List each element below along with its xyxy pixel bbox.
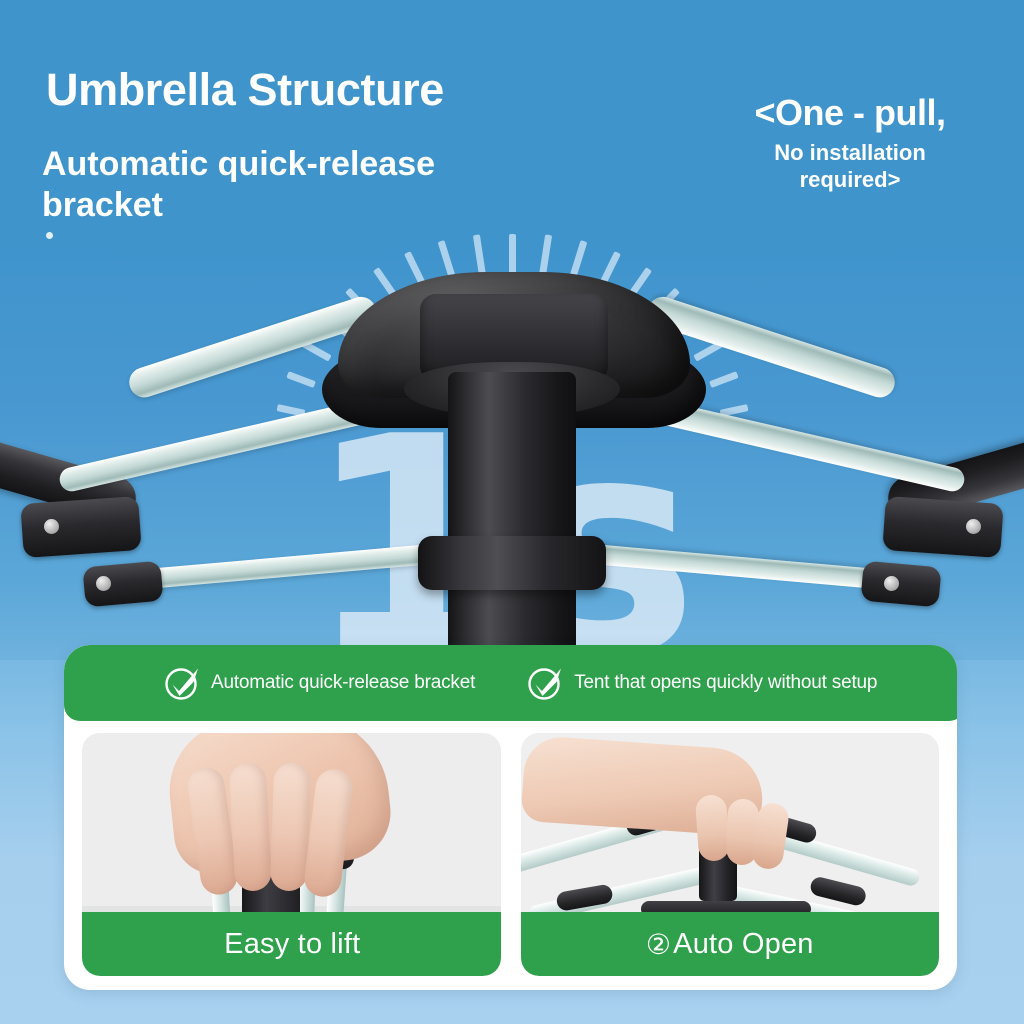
product-joint-right-outer <box>882 496 1003 558</box>
product-center-pole <box>448 372 576 660</box>
frame-joint-arm <box>808 875 867 907</box>
product-joint-left-outer <box>20 496 141 558</box>
panel-caption-easy-to-lift: Easy to lift <box>82 912 501 976</box>
finger <box>694 794 730 862</box>
panel-row: Easy to lift <box>64 721 957 990</box>
page-title: Umbrella Structure <box>46 64 444 116</box>
product-rivet-right-outer <box>966 519 981 534</box>
product-pole-ring <box>418 536 606 590</box>
check-circle-icon <box>162 663 202 703</box>
panel-caption-auto-open: ② Auto Open <box>521 912 940 976</box>
check-circle-icon <box>525 663 565 703</box>
product-rivet-left-lower <box>96 576 111 591</box>
tagline-sub: No installation required> <box>700 140 1000 194</box>
product-rivet-right-lower <box>884 576 899 591</box>
tagline-main: <One - pull, <box>700 92 1000 134</box>
panel-auto-open[interactable]: ② Auto Open <box>521 733 940 976</box>
caption-text: Auto Open <box>673 928 813 961</box>
panel-easy-to-lift[interactable]: Easy to lift <box>82 733 501 976</box>
caption-text: Easy to lift <box>224 928 360 961</box>
feature-card: Automatic quick-release bracket Tent tha… <box>64 645 957 990</box>
product-banner: 1s Umbrella Structure Automatic quick-re… <box>0 0 1024 1024</box>
page-subtitle: Automatic quick-release bracket <box>42 144 562 227</box>
decorative-dot <box>46 232 53 239</box>
product-joint-left-lower <box>82 561 163 608</box>
product-rivet-left-outer <box>44 519 59 534</box>
feature-label: Tent that opens quickly without setup <box>574 672 877 694</box>
feature-item-quick-release: Automatic quick-release bracket <box>162 663 475 703</box>
product-joint-right-lower <box>860 561 941 608</box>
caption-badge: ② <box>646 928 671 961</box>
feature-bar: Automatic quick-release bracket Tent tha… <box>64 645 957 721</box>
tagline-sub-line2: required> <box>700 167 1000 194</box>
tagline-sub-line1: No installation <box>700 140 1000 167</box>
tagline-block: <One - pull, No installation required> <box>700 92 1000 194</box>
finger <box>229 762 273 892</box>
feature-label: Automatic quick-release bracket <box>211 672 475 694</box>
feature-item-quick-open: Tent that opens quickly without setup <box>525 663 877 703</box>
